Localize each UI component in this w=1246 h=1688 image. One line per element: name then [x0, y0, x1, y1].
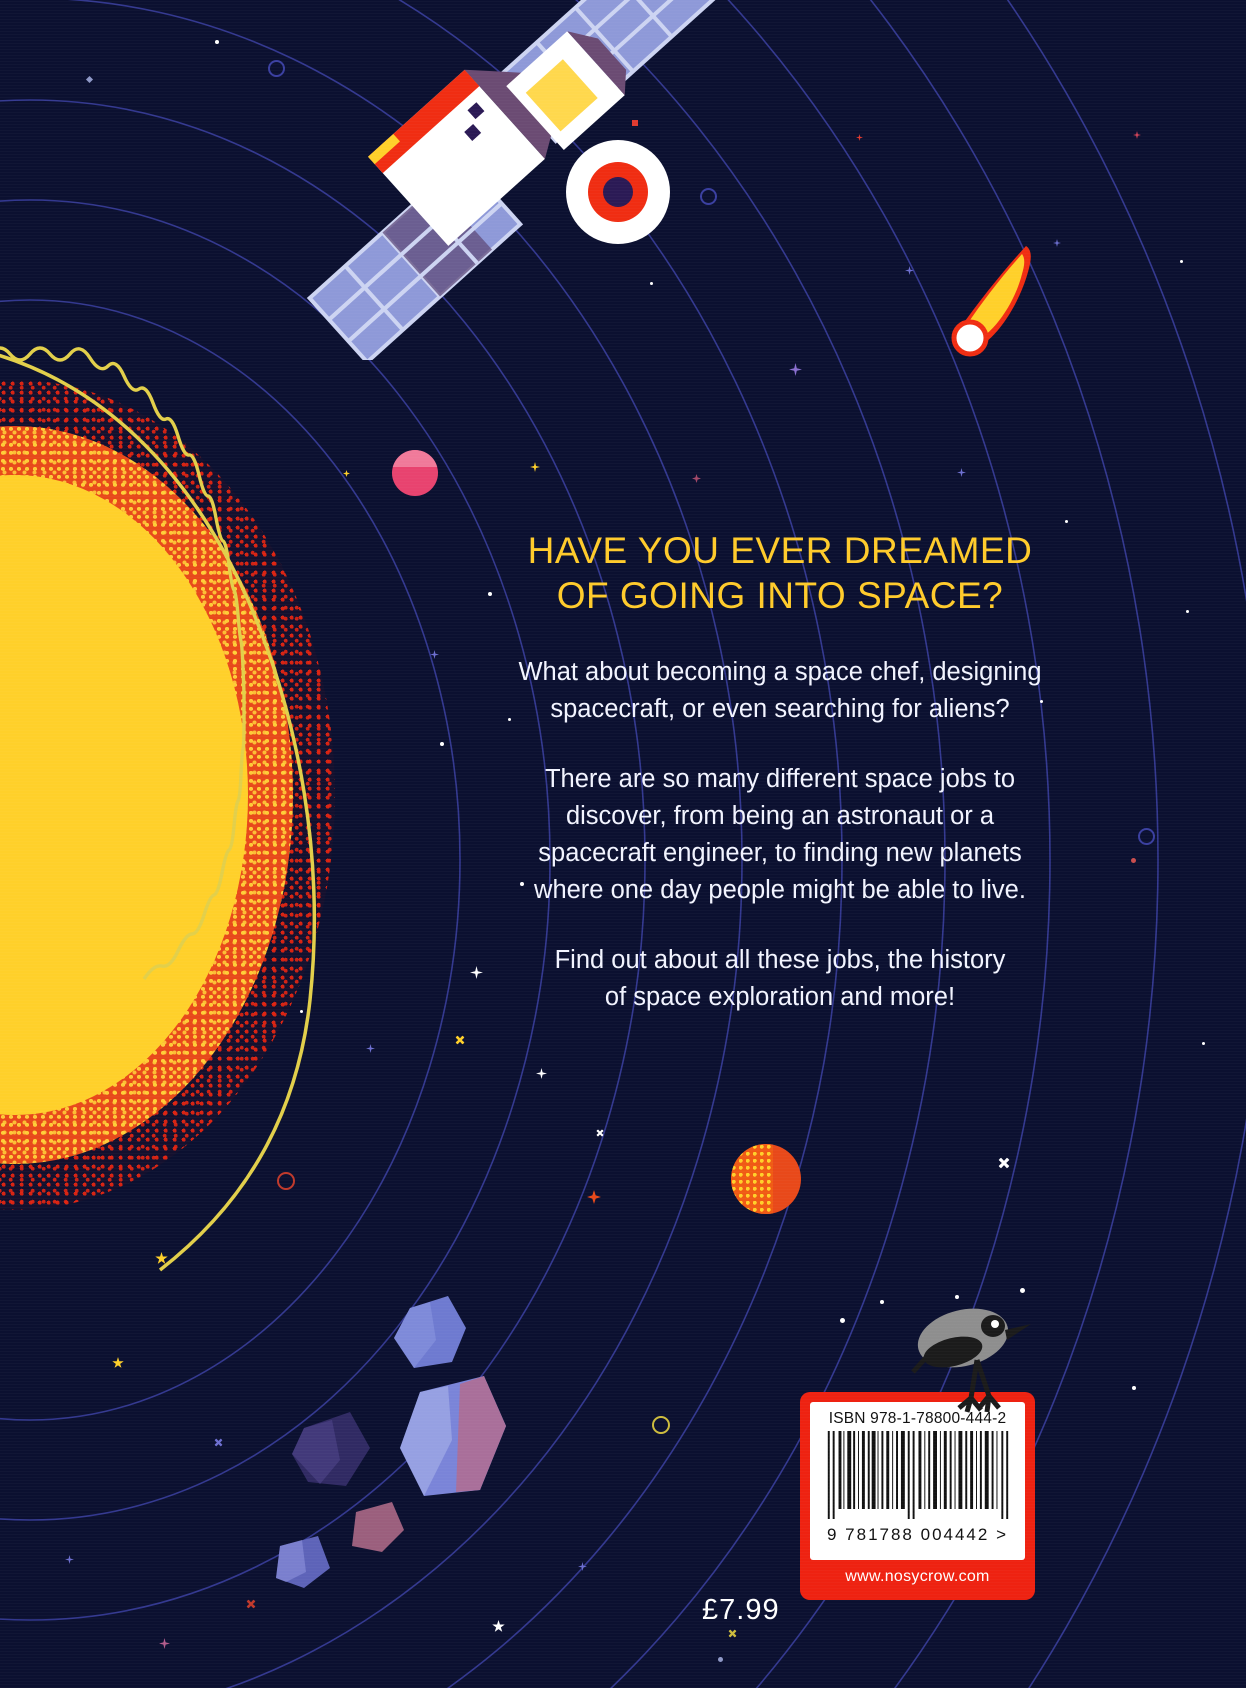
price-label: £7.99	[702, 1594, 780, 1627]
blurb-paragraph-1: What about becoming a space chef, design…	[470, 654, 1090, 728]
pink-planet	[392, 450, 438, 496]
publisher-url: www.nosycrow.com	[810, 1568, 1025, 1586]
book-back-cover: HAVE YOU EVER DREAMED OF GOING INTO SPAC…	[0, 0, 1246, 1688]
blurb-headline: HAVE YOU EVER DREAMED OF GOING INTO SPAC…	[470, 528, 1090, 618]
orange-planet	[731, 1144, 801, 1214]
blurb-paragraph-2: There are so many different space jobs t…	[470, 761, 1090, 909]
comet-illustration	[930, 240, 1040, 360]
blurb-paragraph-3: Find out about all these jobs, the histo…	[470, 942, 1090, 1016]
satellite-illustration	[250, 0, 770, 360]
barcode-bars	[820, 1431, 1015, 1519]
asteroid-cluster-illustration	[270, 1280, 600, 1620]
nosy-crow-logo	[905, 1300, 1035, 1440]
blurb-block: HAVE YOU EVER DREAMED OF GOING INTO SPAC…	[470, 528, 1090, 1016]
sun-ray-squiggle-wave	[0, 320, 400, 1300]
ean-digits: 9 781788 004442 >	[820, 1525, 1015, 1545]
